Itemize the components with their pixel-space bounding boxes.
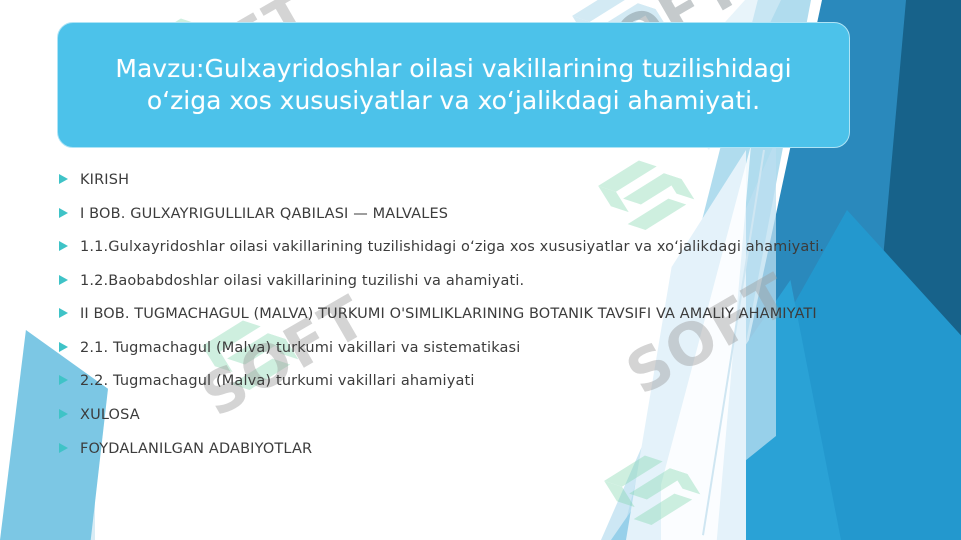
triangle-bullet-icon (52, 204, 80, 218)
list-item: 2.1. Tugmachagul (Malva) turkumi vakilla… (52, 338, 852, 359)
list-item: 1.1.Gulxayridoshlar oilasi vakillarining… (52, 237, 852, 258)
triangle-bullet-icon (52, 170, 80, 184)
list-item: 1.2.Baobabdoshlar oilasi vakillarining t… (52, 271, 852, 292)
list-item-label: KIRISH (80, 170, 852, 191)
list-item: FOYDALANILGAN ADABIYOTLAR (52, 439, 852, 460)
list-item-label: 2.1. Tugmachagul (Malva) turkumi vakilla… (80, 338, 852, 359)
list-item-label: 1.1.Gulxayridoshlar oilasi vakillarining… (80, 237, 852, 258)
triangle-bullet-icon (52, 439, 80, 453)
list-item-label: II BOB. TUGMACHAGUL (MALVA) TURKUMI O'SI… (80, 304, 852, 325)
triangle-bullet-icon (52, 405, 80, 419)
list-item-label: I BOB. GULXAYRIGULLILAR QABILASI — MALVA… (80, 204, 852, 225)
list-item-label: 1.2.Baobabdoshlar oilasi vakillarining t… (80, 271, 852, 292)
triangle-bullet-icon (52, 237, 80, 251)
list-item: 2.2. Tugmachagul (Malva) turkumi vakilla… (52, 371, 852, 392)
list-item-label: 2.2. Tugmachagul (Malva) turkumi vakilla… (80, 371, 852, 392)
triangle-bullet-icon (52, 338, 80, 352)
list-item: KIRISH (52, 170, 852, 191)
slide-content-list: KIRISH I BOB. GULXAYRIGULLILAR QABILASI … (52, 170, 852, 472)
list-item-label: FOYDALANILGAN ADABIYOTLAR (80, 439, 852, 460)
list-item: I BOB. GULXAYRIGULLILAR QABILASI — MALVA… (52, 204, 852, 225)
presentation-slide: SOFT SOFT (0, 0, 961, 540)
list-item: II BOB. TUGMACHAGUL (MALVA) TURKUMI O'SI… (52, 304, 852, 325)
page-title: Mavzu:Gulxayridoshlar oilasi vakillarini… (58, 53, 849, 118)
triangle-bullet-icon (52, 371, 80, 385)
list-item-label: XULOSA (80, 405, 852, 426)
list-item: XULOSA (52, 405, 852, 426)
slide-title-box: Mavzu:Gulxayridoshlar oilasi vakillarini… (57, 22, 850, 148)
triangle-bullet-icon (52, 271, 80, 285)
triangle-bullet-icon (52, 304, 80, 318)
